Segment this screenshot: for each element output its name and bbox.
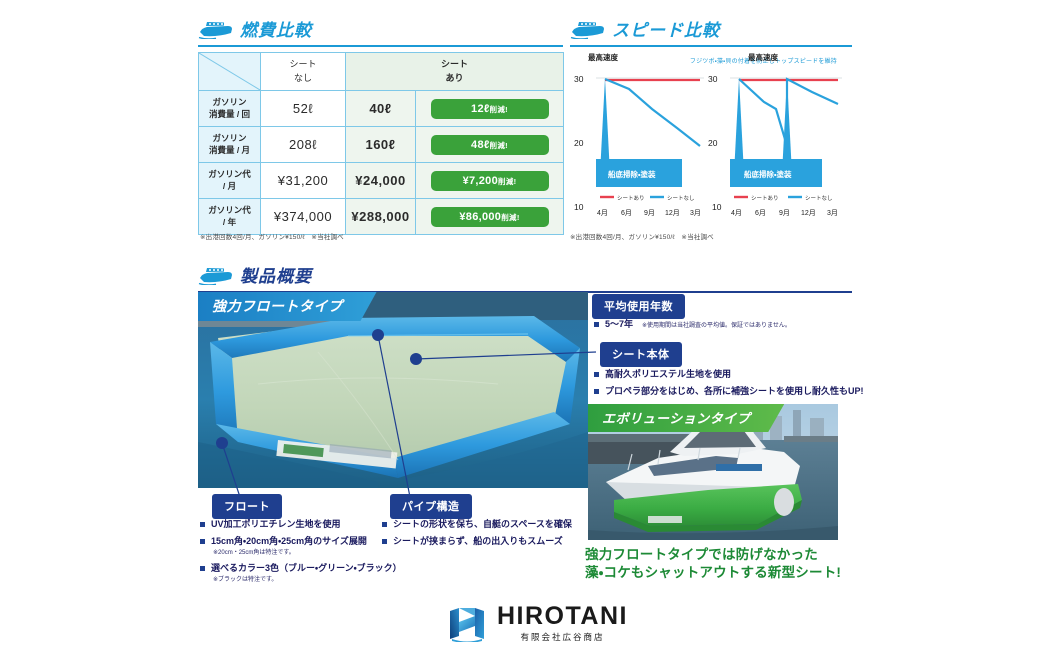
callout-title-sheet-body: シート本体 [600, 342, 682, 367]
savings-badge: ¥86,000削減! [431, 207, 549, 227]
table-row: ガソリン 消費量 / 月 208ℓ 160ℓ 48ℓ削減! [199, 127, 564, 163]
list-item: 高耐久ポリエステル生地を使用 [594, 368, 864, 381]
cell-with-sheet: ¥24,000 [346, 163, 416, 199]
callout-title-pipe: パイプ構造 [390, 494, 472, 519]
chart-2-xtick-2: 9月 [779, 209, 790, 216]
callout-title-float: フロート [212, 494, 282, 519]
evolution-type-photo: エボリューションタイプ [588, 404, 838, 540]
savings-badge: 48ℓ削減! [431, 135, 549, 155]
bullet-text: シートが挟まらず、船の出入りもスムーズ [393, 536, 563, 546]
savings-suffix: 削減! [490, 141, 508, 150]
section-header-speed: スピード比較 フジツボ・藻・貝の付着を防止しトップスピードを維持 [570, 16, 852, 41]
speed-chart-1: 最高速度 30 20 10 船底掃除・塗装 シートあり シートなし 4月 6月 … [572, 52, 707, 212]
section-title-fuel: 燃費比較 [240, 16, 312, 41]
row-label-line2: / 月 [199, 181, 260, 192]
table-row: ガソリン 消費量 / 回 52ℓ 40ℓ 12ℓ削減! [199, 91, 564, 127]
fuel-comparison-table: シート なし シート あり ガソリン 消費量 / 回 52ℓ 40 [198, 52, 564, 235]
savings-badge: ¥7,200削減! [431, 171, 549, 191]
savings-suffix: 削減! [498, 177, 516, 186]
chart-2-canvas: 30 20 10 船底掃除・塗装 シートあり シートなし 4月 6月 9月 12… [706, 64, 846, 216]
bullet-text: シートの形状を保ち、自艇のスペースを確保 [393, 519, 572, 529]
speed-footnote: ※出港回数4回/月、ガソリン¥150/ℓ ※当社調べ [570, 231, 714, 241]
chart-2-xtick-4: 3月 [827, 209, 838, 216]
col-yes-line1: シート [346, 58, 563, 72]
cell-no-sheet: 52ℓ [261, 91, 346, 127]
fuel-comparison-table-wrap: シート なし シート あり ガソリン 消費量 / 回 52ℓ 40 [198, 52, 563, 235]
cell-with-sheet: 40ℓ [346, 91, 416, 127]
section-title-speed: スピード比較 [612, 16, 720, 41]
bullet-text: 5〜7年 [605, 319, 633, 329]
boat-icon [570, 19, 606, 39]
float-type-photo-image [198, 292, 588, 488]
callout-bullets-years: 5〜7年 ※使用期間は当社調査の平均値。保証ではありません。 [594, 318, 791, 335]
column-header-no-sheet: シート なし [261, 53, 346, 91]
speed-chart-2: 最高速度 30 20 10 船底掃除・塗装 シートあり シートなし 4月 6月 … [706, 52, 841, 212]
row-label: ガソリン代 / 年 [199, 199, 261, 235]
bullet-text: 高耐久ポリエステル生地を使用 [605, 369, 731, 379]
bullet-text: プロペラ部分をはじめ、各所に補強シートを使用し耐久性もUP! [605, 386, 864, 396]
section-header-fuel: 燃費比較 [198, 16, 563, 41]
chart-1-ytick-20: 20 [574, 138, 584, 148]
bullet-note: ※ブラックは特注です。 [211, 576, 402, 585]
bullet-note: ※使用期間は当社調査の平均値。保証ではありません。 [642, 323, 791, 329]
cell-no-sheet: ¥374,000 [261, 199, 346, 235]
cell-savings: 12ℓ削減! [416, 91, 564, 127]
table-header-row: シート なし シート あり [199, 53, 564, 91]
chart-1-xtick-3: 12月 [665, 209, 680, 216]
cell-savings: ¥86,000削減! [416, 199, 564, 235]
row-label: ガソリン 消費量 / 月 [199, 127, 261, 163]
cell-no-sheet: 208ℓ [261, 127, 346, 163]
list-item: 15cm角・20cm角・25cm角のサイズ展開※20cm・25cm角は特注です。 [200, 535, 402, 558]
col-yes-line2: あり [346, 72, 563, 86]
chart-2-xtick-3: 12月 [801, 209, 816, 216]
chart-2-xtick-1: 6月 [755, 209, 766, 216]
list-item: シートの形状を保ち、自艇のスペースを確保 [382, 518, 572, 531]
boat-icon [198, 265, 234, 285]
row-label-line2: / 年 [199, 217, 260, 228]
hirotani-h-logo-icon [446, 606, 488, 642]
col-no-line2: なし [261, 72, 345, 86]
savings-value: 12ℓ [471, 103, 490, 115]
float-type-ribbon: 強力フロートタイプ [198, 292, 377, 321]
chart-1-series-no-sheet [605, 79, 700, 146]
list-item: プロペラ部分をはじめ、各所に補強シートを使用し耐久性もUP! [594, 385, 864, 398]
boat-icon [198, 19, 234, 39]
chart-2-title: 最高速度 [748, 52, 778, 63]
table-row: ガソリン代 / 月 ¥31,200 ¥24,000 ¥7,200削減! [199, 163, 564, 199]
column-header-with-sheet: シート あり [346, 53, 564, 91]
cell-with-sheet: ¥288,000 [346, 199, 416, 235]
bullet-text: 15cm角・20cm角・25cm角のサイズ展開 [211, 536, 367, 546]
brand-name: HIROTANI [497, 604, 628, 629]
row-label: ガソリン 消費量 / 回 [199, 91, 261, 127]
chart-2-ytick-30: 30 [708, 74, 718, 84]
cell-savings: ¥7,200削減! [416, 163, 564, 199]
chart-1-title: 最高速度 [588, 52, 618, 63]
bullet-text: UV加工ポリエチレン生地を使用 [211, 519, 341, 529]
chart-1-canvas: 30 20 10 船底掃除・塗装 シートあり シートなし 4月 6月 9月 12… [572, 64, 707, 216]
cell-with-sheet: 160ℓ [346, 127, 416, 163]
callout-bullets-sheet-body: 高耐久ポリエステル生地を使用 プロペラ部分をはじめ、各所に補強シートを使用し耐久… [594, 368, 864, 402]
table-corner-cell [199, 53, 261, 91]
list-item: 選べるカラー3色（ブルー・グリーン・ブラック）※ブラックは特注です。 [200, 562, 402, 585]
col-no-line1: シート [261, 58, 345, 72]
row-label-line1: ガソリン代 [199, 205, 260, 216]
section-rule-speed [570, 45, 852, 47]
evolution-claim-line1: 強力フロートタイプでは防げなかった [585, 546, 841, 564]
list-item: シートが挟まらず、船の出入りもスムーズ [382, 535, 572, 548]
chart-1-ytick-10: 10 [574, 202, 584, 212]
chart-2-annotation-label: 船底掃除・塗装 [744, 169, 792, 179]
row-label-line2: 消費量 / 回 [199, 109, 260, 120]
savings-suffix: 削減! [501, 213, 519, 222]
brochure-page: 燃費比較 シート なし シート [0, 0, 1040, 646]
bullet-note: ※20cm・25cm角は特注です。 [211, 549, 402, 558]
row-label-line1: ガソリン代 [199, 169, 260, 180]
footer-logo: HIROTANI 有限会社広谷商店 [446, 604, 628, 643]
chart-1-annotation-label: 船底掃除・塗装 [608, 169, 656, 179]
row-label-line2: 消費量 / 月 [199, 145, 260, 156]
chart-1-xtick-4: 3月 [690, 209, 701, 216]
evolution-type-ribbon: エボリューションタイプ [588, 404, 784, 432]
chart-1-ytick-30: 30 [574, 74, 584, 84]
logo-text: HIROTANI 有限会社広谷商店 [497, 604, 628, 643]
fuel-footnote: ※出港回数4回/月、ガソリン¥150/ℓ ※当社調べ [200, 231, 344, 241]
chart-2-ytick-20: 20 [708, 138, 718, 148]
row-label-line1: ガソリン [199, 97, 260, 108]
chart-2-legend-no-sheet: シートなし [805, 195, 833, 202]
section-title-product: 製品概要 [240, 262, 312, 287]
chart-2-ytick-10: 10 [712, 202, 722, 212]
savings-value: ¥7,200 [463, 175, 498, 187]
evolution-claim: 強力フロートタイプでは防げなかった 藻・コケもシャットアウトする新型シート! [585, 546, 841, 582]
chart-2-xtick-0: 4月 [731, 209, 742, 216]
list-item: 5〜7年 ※使用期間は当社調査の平均値。保証ではありません。 [594, 318, 791, 331]
list-item: UV加工ポリエチレン生地を使用 [200, 518, 402, 531]
cell-no-sheet: ¥31,200 [261, 163, 346, 199]
callout-bullets-float: UV加工ポリエチレン生地を使用 15cm角・20cm角・25cm角のサイズ展開※… [200, 518, 402, 589]
callout-bullets-pipe: シートの形状を保ち、自艇のスペースを確保 シートが挟まらず、船の出入りもスムーズ [382, 518, 572, 552]
savings-badge: 12ℓ削減! [431, 99, 549, 119]
chart-2-legend-with-sheet: シートあり [751, 195, 779, 202]
cell-savings: 48ℓ削減! [416, 127, 564, 163]
savings-value: ¥86,000 [459, 211, 501, 223]
chart-1-legend-no-sheet: シートなし [667, 195, 695, 202]
section-header-product: 製品概要 [198, 262, 852, 287]
row-label: ガソリン代 / 月 [199, 163, 261, 199]
bullet-text: 選べるカラー3色（ブルー・グリーン・ブラック） [211, 563, 402, 573]
evolution-claim-line2: 藻・コケもシャットアウトする新型シート! [585, 564, 841, 582]
row-label-line1: ガソリン [199, 133, 260, 144]
chart-1-legend-with-sheet: シートあり [617, 195, 645, 202]
company-name: 有限会社広谷商店 [497, 631, 628, 643]
callout-title-years: 平均使用年数 [592, 294, 685, 319]
savings-value: 48ℓ [471, 139, 490, 151]
chart-1-xtick-2: 9月 [644, 209, 655, 216]
float-type-photo: 強力フロートタイプ [198, 292, 588, 488]
chart-1-xtick-1: 6月 [621, 209, 632, 216]
savings-suffix: 削減! [490, 105, 508, 114]
section-rule-fuel [198, 45, 563, 47]
table-row: ガソリン代 / 年 ¥374,000 ¥288,000 ¥86,000削減! [199, 199, 564, 235]
diagonal-slash-icon [199, 53, 260, 90]
chart-1-xtick-0: 4月 [597, 209, 608, 216]
